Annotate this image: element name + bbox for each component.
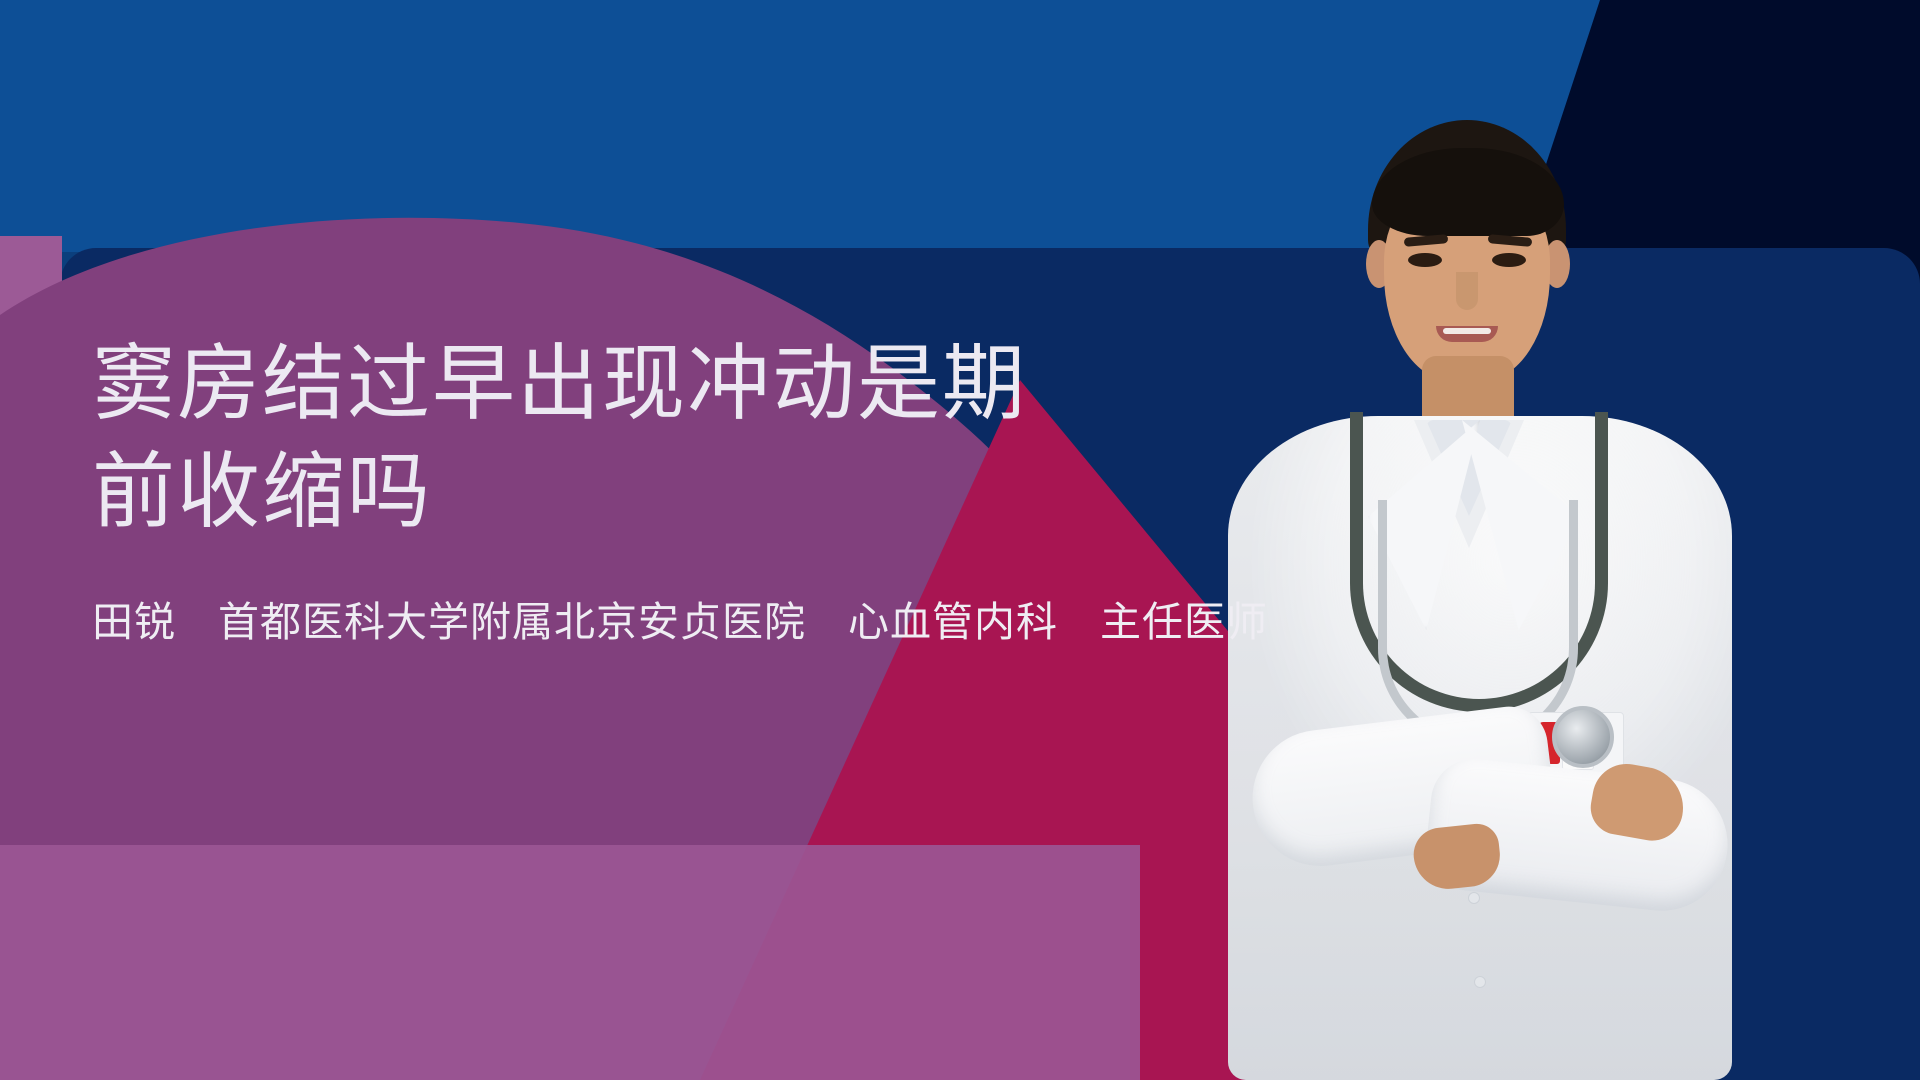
slide-canvas: 窦房结过早出现冲动是期 前收缩吗 田锐 首都医科大学附属北京安贞医院 心血管内科… — [0, 0, 1920, 1080]
eye-left — [1408, 253, 1442, 267]
title-line-2: 前收缩吗 — [92, 438, 1222, 546]
coat-button-2 — [1474, 976, 1486, 988]
eye-right — [1492, 253, 1526, 267]
text-block: 窦房结过早出现冲动是期 前收缩吗 田锐 首都医科大学附属北京安贞医院 心血管内科… — [92, 330, 1222, 650]
coat-button-1 — [1468, 892, 1480, 904]
byline: 田锐 首都医科大学附属北京安贞医院 心血管内科 主任医师 — [92, 594, 1222, 650]
mouth-smile — [1436, 326, 1498, 342]
light-purple-bottom-band — [0, 845, 1140, 1080]
doctor-portrait — [1200, 120, 1760, 1080]
title-line-1: 窦房结过早出现冲动是期 — [92, 330, 1222, 438]
nose — [1456, 272, 1478, 310]
stethoscope-chestpiece — [1552, 706, 1614, 768]
